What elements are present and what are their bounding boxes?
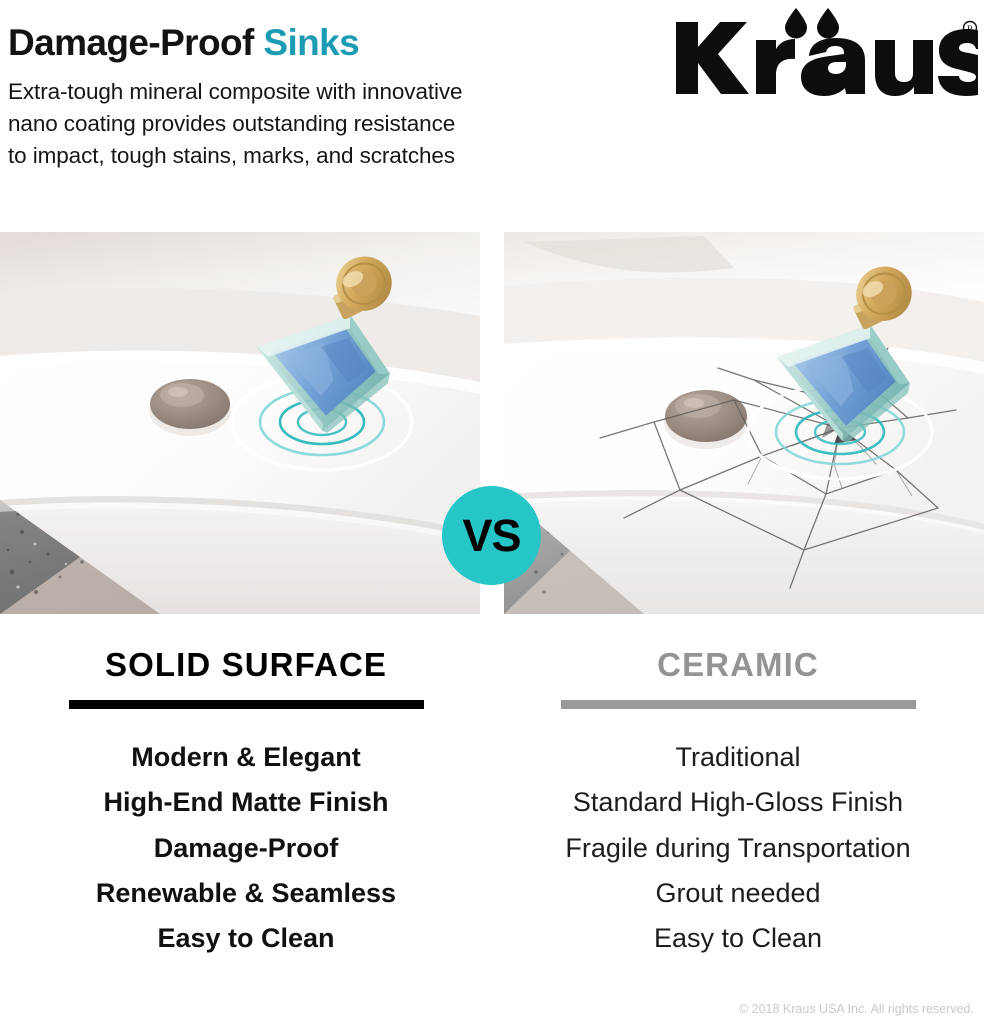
feature-item: Damage-Proof — [0, 826, 492, 871]
drain-cap — [149, 379, 231, 436]
feature-item: Easy to Clean — [0, 916, 492, 961]
feature-item: Traditional — [492, 735, 984, 780]
feature-item: Fragile during Transportation — [492, 826, 984, 871]
column-title-solid-surface: SOLID SURFACE — [0, 648, 492, 681]
column-rule-solid-surface — [69, 700, 424, 709]
feature-item: Easy to Clean — [492, 916, 984, 961]
photo-solid-surface — [0, 232, 480, 614]
vs-badge: VS — [442, 486, 541, 585]
vs-label: VS — [462, 513, 520, 558]
feature-item: Grout needed — [492, 871, 984, 916]
drain-cap — [664, 390, 748, 449]
feature-item: High-End Matte Finish — [0, 780, 492, 825]
feature-item: Modern & Elegant — [0, 735, 492, 780]
registered-trademark-icon: R — [964, 22, 977, 35]
feature-list-solid-surface: Modern & Elegant High-End Matte Finish D… — [0, 735, 492, 962]
column-ceramic: CERAMIC Traditional Standard High-Gloss … — [492, 648, 984, 962]
copyright-notice: © 2018 Kraus USA Inc. All rights reserve… — [739, 1002, 974, 1016]
headline-main: Damage-Proof — [8, 22, 263, 63]
kraus-sink-comparison-infographic: Damage-Proof Sinks Extra-tough mineral c… — [0, 0, 984, 1024]
column-rule-ceramic — [561, 700, 916, 709]
feature-item: Renewable & Seamless — [0, 871, 492, 916]
feature-list-ceramic: Traditional Standard High-Gloss Finish F… — [492, 735, 984, 962]
droplet-icon — [785, 8, 839, 39]
kraus-logo: R — [668, 6, 978, 98]
headline-accent: Sinks — [263, 22, 359, 63]
column-title-ceramic: CERAMIC — [492, 648, 984, 681]
feature-item: Standard High-Gloss Finish — [492, 780, 984, 825]
column-solid-surface: SOLID SURFACE Modern & Elegant High-End … — [0, 648, 492, 962]
subheadline-line-2: nano coating provides outstanding resist… — [8, 108, 984, 140]
subheadline-line-3: to impact, tough stains, marks, and scra… — [8, 140, 984, 172]
comparison-table: SOLID SURFACE Modern & Elegant High-End … — [0, 648, 984, 962]
svg-text:R: R — [967, 24, 973, 34]
photo-ceramic — [504, 232, 984, 614]
